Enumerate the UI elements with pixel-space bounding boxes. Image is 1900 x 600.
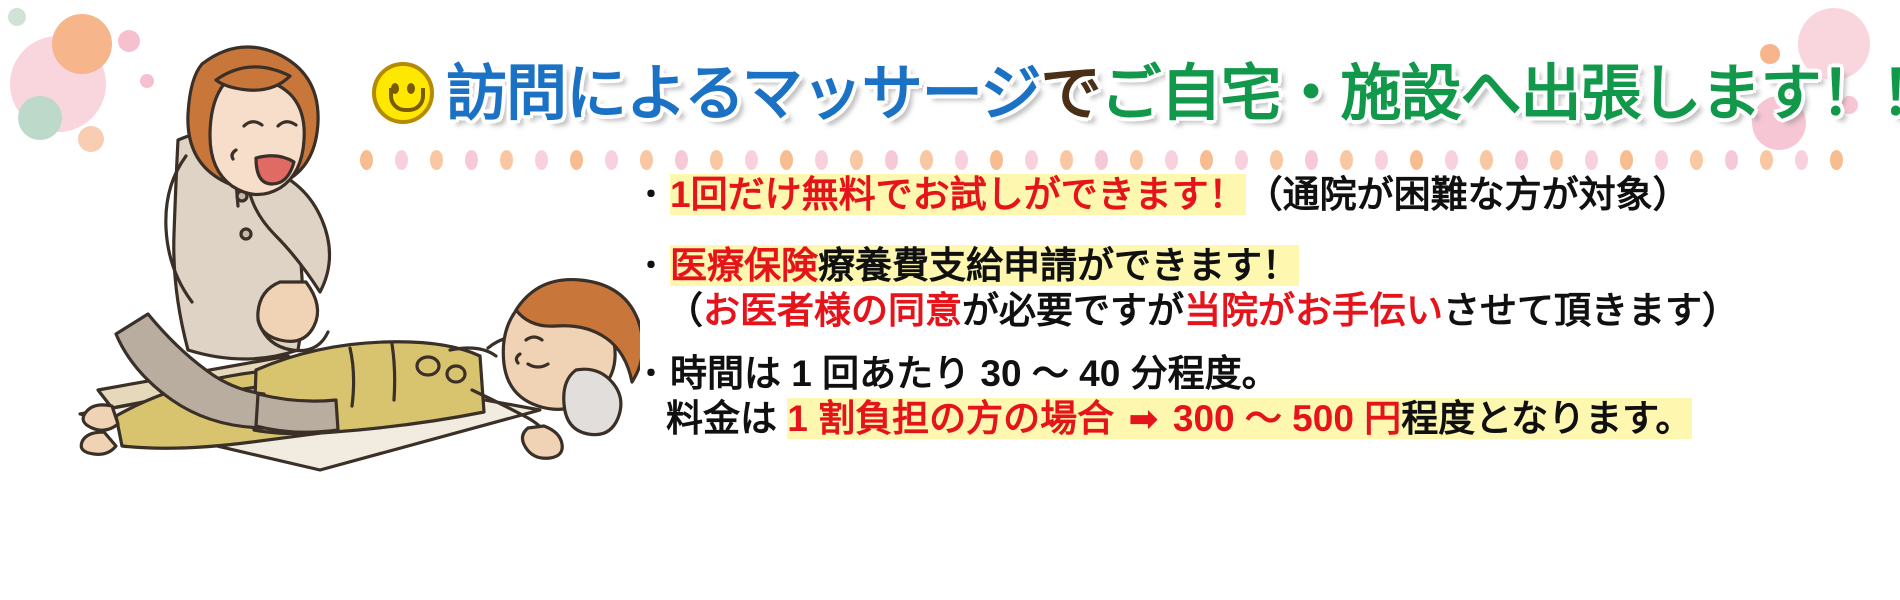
divider-dot [885, 150, 898, 170]
divider-dot [1655, 150, 1668, 170]
divider-dot [990, 150, 1003, 170]
bullet-3-price-tail: 程度となります。 [1401, 398, 1692, 439]
bullet-3-price-label: 料金は [666, 398, 787, 439]
divider-dot [1830, 150, 1843, 170]
list-item-sub: （お医者様の同意が必要ですが当院がお手伝いさせて頂きます） [636, 292, 1886, 329]
divider-dot [1690, 150, 1703, 170]
divider-dot [640, 150, 653, 170]
divider-dot [1585, 150, 1598, 170]
bullet-3-condition: 1 割負担の方の場合 [787, 398, 1124, 439]
bullet-2-body: 療養費支給申請ができます！ [818, 245, 1299, 286]
massage-illustration [20, 18, 640, 498]
bullet-3-duration: 時間は 1 回あたり 30 〜 40 分程度。 [670, 353, 1279, 394]
bullet-2-sub-black-1: が必要ですが [962, 290, 1184, 331]
bullet-2-sub-red-2: 当院がお手伝い [1184, 290, 1443, 331]
divider-dot [780, 150, 793, 170]
divider-dot [1515, 150, 1528, 170]
divider-dot [1235, 150, 1248, 170]
bullet-2-sub-open: （ [666, 290, 703, 331]
divider-dot [1795, 150, 1808, 170]
divider-dot [675, 150, 688, 170]
bullet-2-sub-close: させて頂きます） [1443, 290, 1739, 331]
divider-dot [1200, 150, 1213, 170]
bullet-2-keyword: 医療保険 [670, 245, 818, 286]
divider-dot [1130, 150, 1143, 170]
bullet-marker: ・ [636, 250, 670, 283]
list-item: ・時間は 1 回あたり 30 〜 40 分程度。 [636, 355, 1886, 392]
divider-dot [850, 150, 863, 170]
divider-dot [1410, 150, 1423, 170]
divider-dot [1095, 150, 1108, 170]
banner-root: 訪問によるマッサージ で ご自宅・施設へ出張します！！ ・1回だけ無料でお試しが… [0, 0, 1900, 600]
divider-dot [1270, 150, 1283, 170]
headline-part-brown: で [1041, 63, 1101, 124]
divider-dot [1550, 150, 1563, 170]
divider-dot [1725, 150, 1738, 170]
divider-dot [1620, 150, 1633, 170]
divider-dot [1375, 150, 1388, 170]
divider-dot [920, 150, 933, 170]
right-arrow-icon: ➡ [1124, 398, 1162, 439]
divider-dot [1025, 150, 1038, 170]
divider-dot [1760, 150, 1773, 170]
bullet-marker: ・ [636, 179, 670, 212]
divider-dot [955, 150, 968, 170]
bullet-3-price: 300 〜 500 円 [1163, 398, 1402, 439]
bullet-1-highlight: 1回だけ無料でお試しができます！ [670, 174, 1246, 215]
bullet-2-sub-red-1: お医者様の同意 [703, 290, 962, 331]
list-item: ・医療保険療養費支給申請ができます！ [636, 247, 1886, 284]
divider-dot [1060, 150, 1073, 170]
bullet-marker: ・ [636, 358, 670, 391]
divider-dot [745, 150, 758, 170]
list-item-sub: 料金は 1 割負担の方の場合 ➡ 300 〜 500 円程度となります。 [636, 400, 1886, 437]
divider-dot [1480, 150, 1493, 170]
bullet-1-note: （通院が困難な方が対象） [1246, 174, 1690, 215]
divider-dot [1340, 150, 1353, 170]
headline-part-green: ご自宅・施設へ出張します！！ [1101, 63, 1900, 124]
divider-dot [1305, 150, 1318, 170]
divider-dot [1445, 150, 1458, 170]
massage-illustration-svg [20, 18, 640, 498]
list-item: ・1回だけ無料でお試しができます！（通院が困難な方が対象） [636, 176, 1886, 213]
divider-dot [815, 150, 828, 170]
divider-dot [1165, 150, 1178, 170]
divider-dot [710, 150, 723, 170]
bullet-list: ・1回だけ無料でお試しができます！（通院が困難な方が対象） ・医療保険療養費支給… [636, 176, 1886, 437]
